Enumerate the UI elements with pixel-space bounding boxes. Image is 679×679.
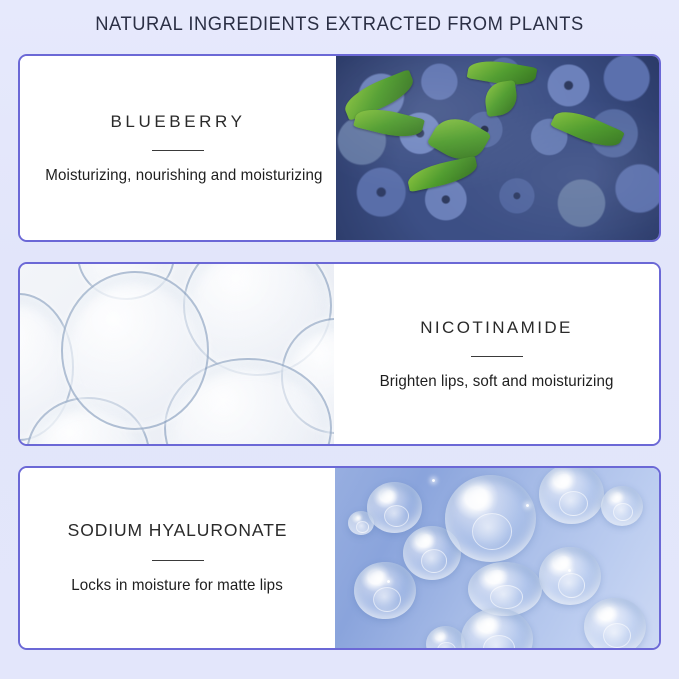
water-droplet-icon — [426, 626, 465, 648]
water-droplet-icon — [445, 475, 536, 561]
ingredient-card-sodium-hyaluronate: SODIUM HYALURONATE Locks in moisture for… — [18, 466, 661, 650]
ingredient-text-panel: SODIUM HYALURONATE Locks in moisture for… — [20, 468, 335, 648]
ingredient-name: NICOTINAMIDE — [420, 319, 573, 336]
water-droplet-icon — [348, 511, 374, 534]
divider — [152, 560, 204, 561]
water-droplet-icon — [539, 547, 601, 605]
water-droplet-icon — [601, 486, 643, 526]
ingredient-image-blue-droplets — [335, 468, 659, 648]
ingredient-description: Locks in moisture for matte lips — [72, 578, 284, 594]
ingredient-description: Brighten lips, soft and moisturizing — [380, 374, 614, 390]
ingredient-card-blueberry: BLUEBERRY Moisturizing, nourishing and m… — [18, 54, 661, 242]
water-droplet-icon — [354, 562, 416, 620]
divider — [471, 356, 523, 357]
sparkle-icon — [387, 580, 390, 583]
sparkle-icon — [432, 479, 435, 482]
ingredient-name: SODIUM HYALURONATE — [68, 522, 288, 540]
water-droplet-icon — [584, 598, 646, 648]
ingredient-image-clear-bubbles — [20, 264, 334, 444]
water-droplet-icon — [468, 562, 543, 616]
droplet-field-icon — [335, 468, 659, 648]
ingredient-text-panel: NICOTINAMIDE Brighten lips, soft and moi… — [334, 264, 659, 444]
bubble-ring-icon — [61, 271, 209, 430]
ingredient-image-blueberry — [336, 56, 659, 240]
ingredient-name: BLUEBERRY — [110, 113, 245, 130]
ingredient-description: Moisturizing, nourishing and moisturizin… — [45, 168, 322, 184]
bubble-field-icon — [20, 264, 334, 444]
water-droplet-icon — [367, 482, 422, 532]
ingredient-card-nicotinamide: NICOTINAMIDE Brighten lips, soft and moi… — [18, 262, 661, 446]
divider — [152, 150, 204, 151]
ingredients-infographic: NATURAL INGREDIENTS EXTRACTED FROM PLANT… — [0, 0, 679, 679]
page-title: NATURAL INGREDIENTS EXTRACTED FROM PLANT… — [20, 13, 658, 36]
water-droplet-icon — [461, 608, 532, 648]
water-droplet-icon — [539, 468, 604, 524]
ingredient-text-panel: BLUEBERRY Moisturizing, nourishing and m… — [20, 56, 336, 240]
highlight-overlay — [336, 56, 659, 240]
